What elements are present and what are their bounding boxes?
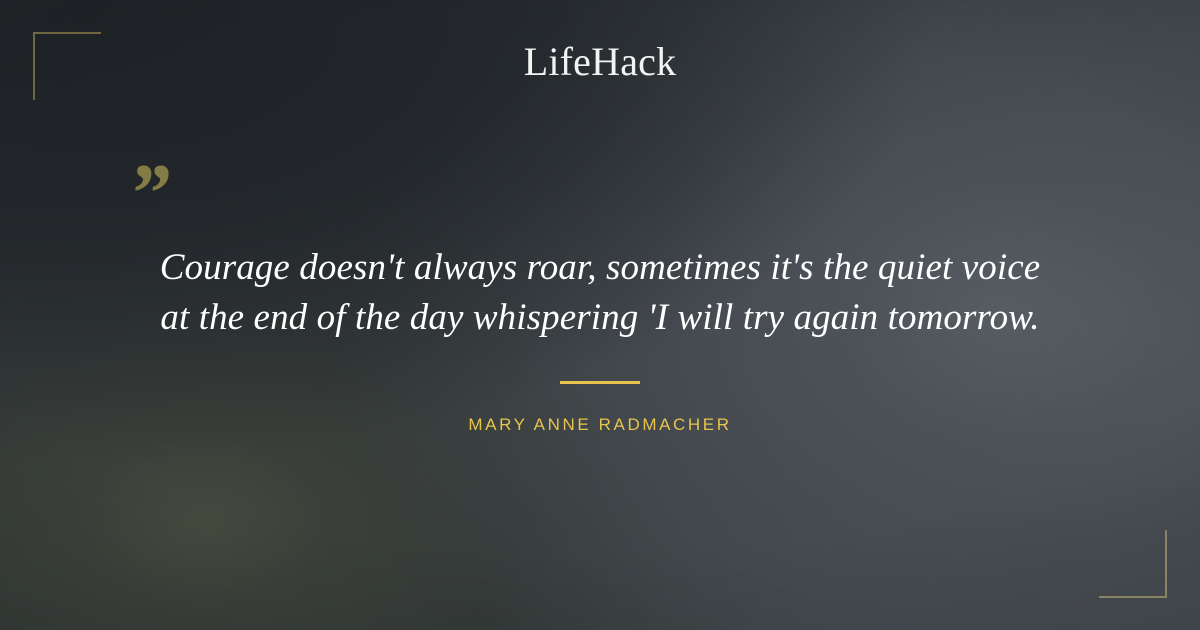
quotation-mark-icon: ” [128, 152, 170, 236]
quote-author: MARY ANNE RADMACHER [0, 415, 1200, 435]
quote-card-poster: LifeHack ” Courage doesn't always roar, … [0, 0, 1200, 630]
gold-divider [560, 381, 640, 384]
quote-text: Courage doesn't always roar, sometimes i… [0, 243, 1200, 343]
quote-line: at the end of the day whispering 'I will… [0, 293, 1200, 343]
quote-line: Courage doesn't always roar, sometimes i… [0, 243, 1200, 293]
brand-logo: LifeHack [0, 42, 1200, 82]
